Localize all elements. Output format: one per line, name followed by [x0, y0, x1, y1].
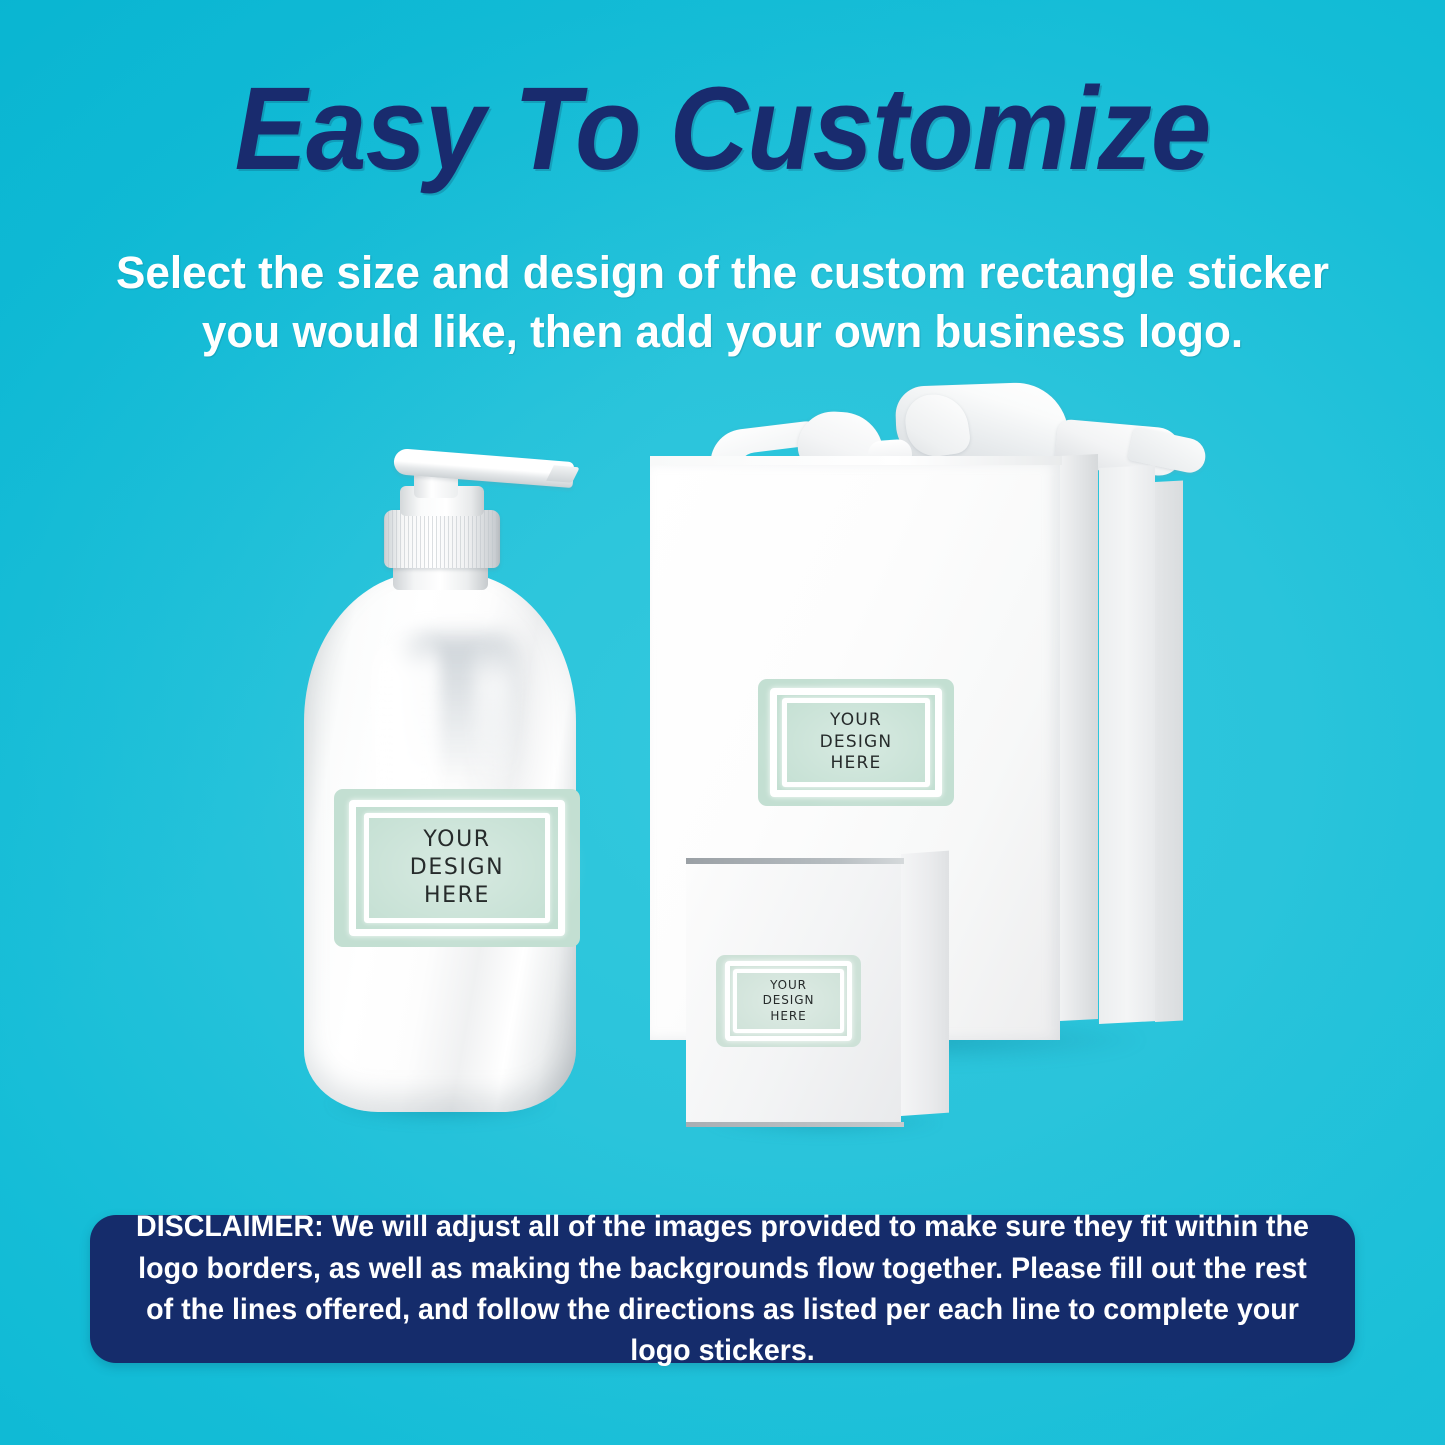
gift-box-side-middle: [1099, 465, 1155, 1024]
small-box-bottom-edge: [686, 1122, 904, 1127]
small-box-side-panel: [901, 851, 949, 1116]
small-box-top-edge: [686, 858, 904, 864]
sticker-label-bottle[interactable]: YOUR DESIGN HERE: [334, 789, 580, 947]
sticker-text-line-3: HERE: [763, 1009, 815, 1024]
sticker-text-line-2: DESIGN: [820, 732, 893, 754]
page-subtitle: Select the size and design of the custom…: [105, 243, 1341, 362]
gift-box-side-back: [1155, 481, 1183, 1022]
gift-box-side-front: [1060, 454, 1098, 1021]
sticker-text-line-3: HERE: [820, 753, 893, 775]
disclaimer-label: DISCLAIMER:: [136, 1210, 324, 1243]
pump-spout-tip: [546, 465, 580, 482]
disclaimer-text: DISCLAIMER: We will adjust all of the im…: [109, 1206, 1336, 1371]
sticker-label-gift-box[interactable]: YOUR DESIGN HERE: [758, 679, 954, 806]
sticker-text: YOUR DESIGN HERE: [410, 826, 504, 910]
sticker-text-line-1: YOUR: [820, 710, 893, 732]
sticker-text: YOUR DESIGN HERE: [763, 978, 815, 1024]
gift-box-lid-edge: [650, 456, 1062, 465]
page-title: Easy To Customize: [58, 70, 1387, 188]
bottle-cap-ribbed: [384, 510, 500, 568]
sticker-text-line-2: DESIGN: [410, 854, 504, 882]
sticker-text-line-2: DESIGN: [763, 993, 815, 1008]
promo-banner: Easy To Customize Select the size and de…: [0, 0, 1445, 1445]
sticker-label-small-box[interactable]: YOUR DESIGN HERE: [716, 955, 861, 1047]
sticker-text: YOUR DESIGN HERE: [820, 710, 893, 775]
disclaimer-box: DISCLAIMER: We will adjust all of the im…: [90, 1215, 1355, 1363]
sticker-text-line-3: HERE: [410, 882, 504, 910]
subtitle-line-1: Select the size and design of the custom…: [105, 243, 1341, 302]
sticker-text-line-1: YOUR: [763, 978, 815, 993]
subtitle-line-2: you would like, then add your own busine…: [105, 302, 1341, 361]
sticker-text-line-1: YOUR: [410, 826, 504, 854]
